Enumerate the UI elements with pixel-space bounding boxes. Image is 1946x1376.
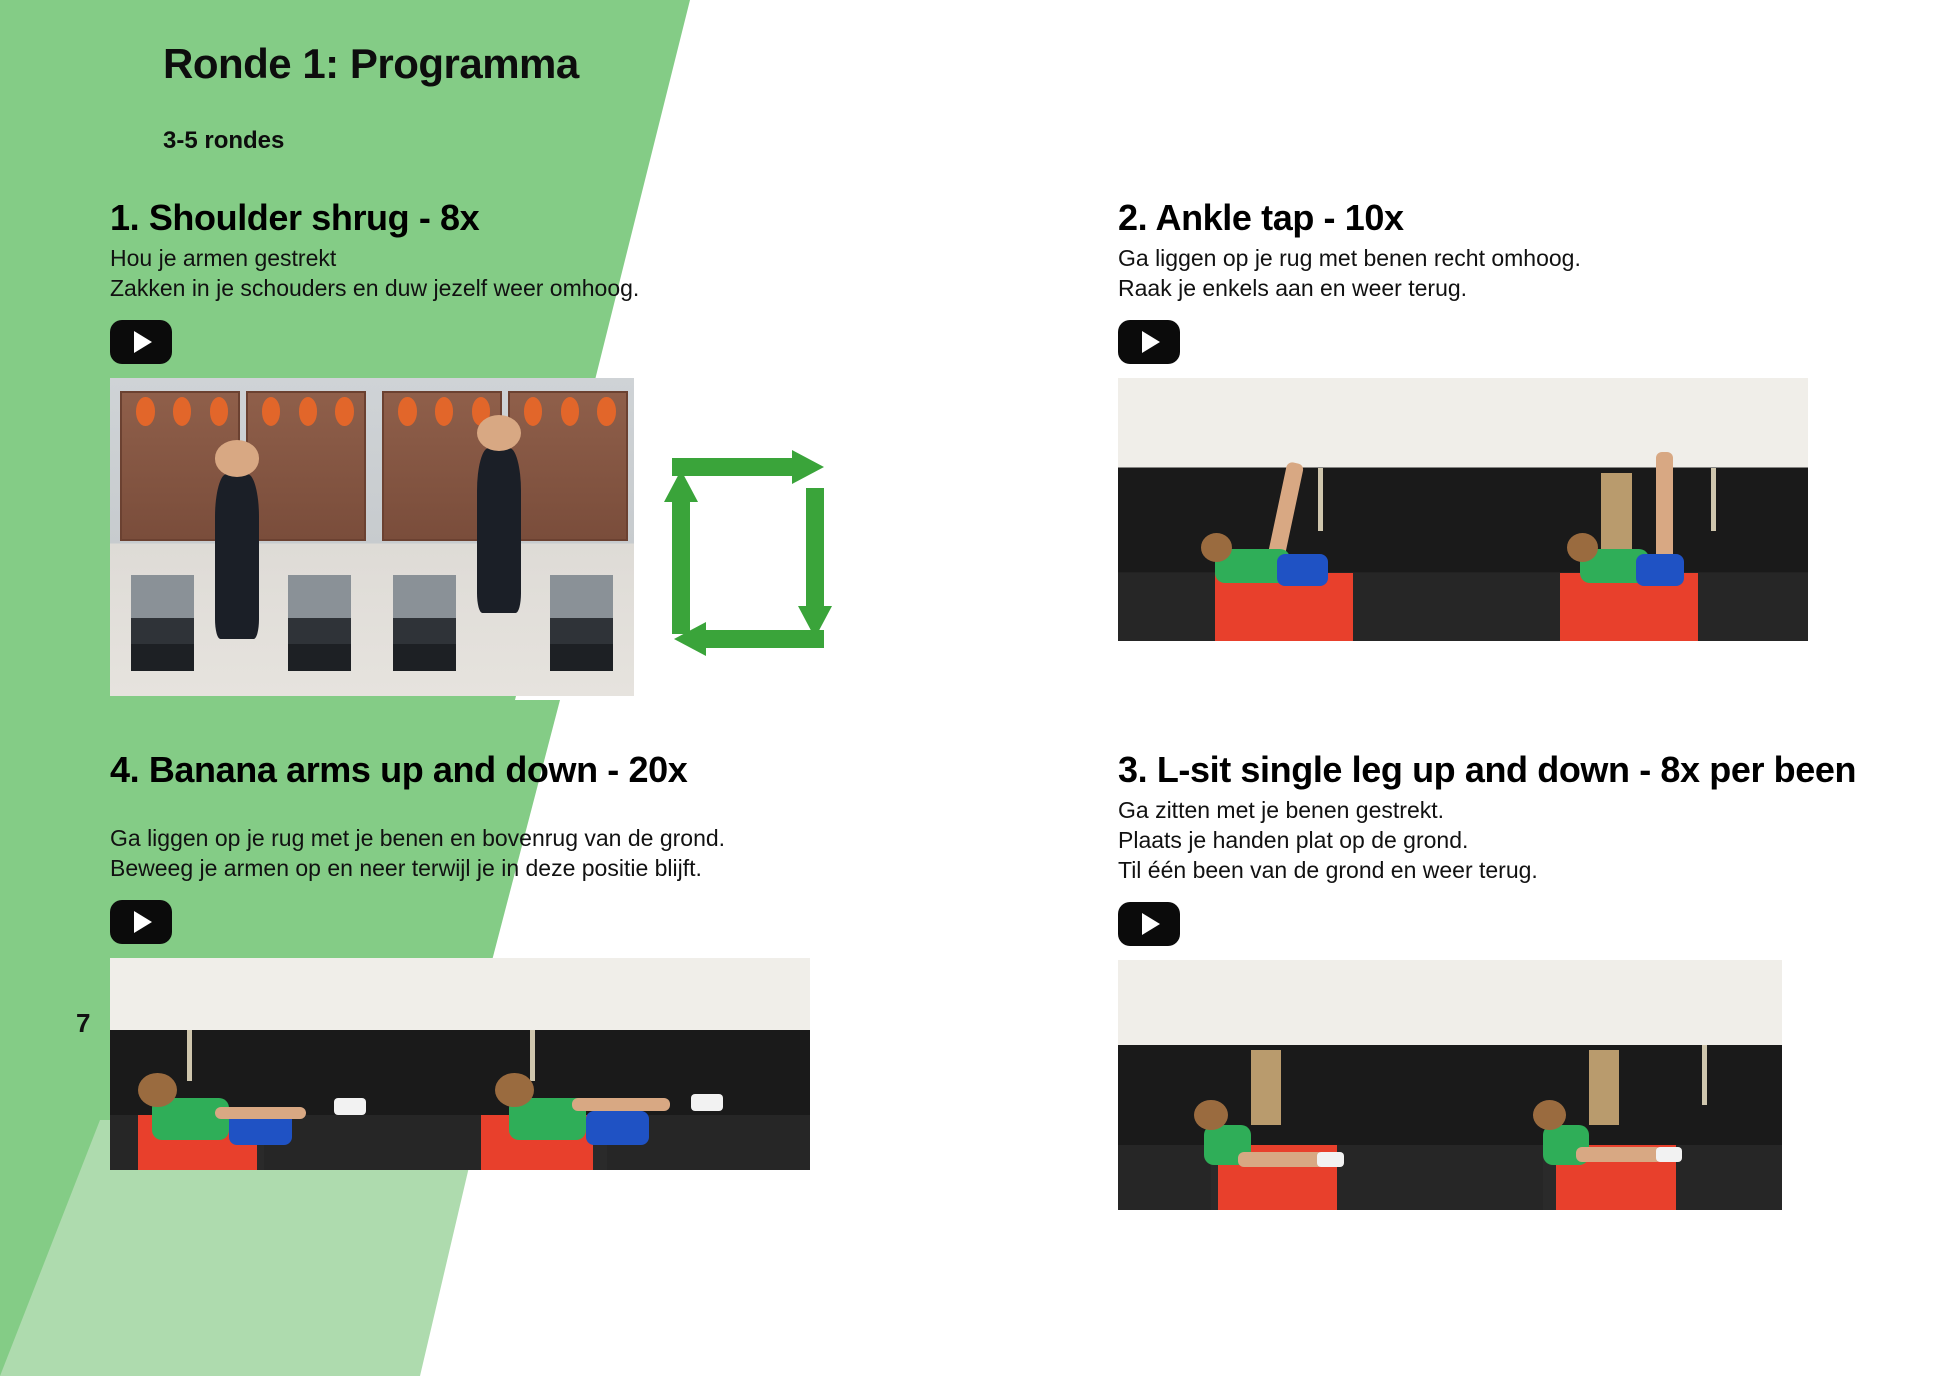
exercise-3-photo-pair (1118, 960, 1908, 1210)
banana-photo-left (110, 958, 460, 1170)
l-sit-photo-left (1118, 960, 1450, 1210)
exercise-2-photo-pair (1118, 378, 1818, 641)
page-number: 7 (76, 1008, 90, 1039)
circuit-flow-diagram (660, 450, 840, 660)
cycle-arrows-svg (660, 450, 840, 660)
exercise-block-2: 2. Ankle tap - 10x Ga liggen op je rug m… (1118, 198, 1818, 641)
play-triangle-icon (134, 331, 152, 353)
exercise-4-title: 4. Banana arms up and down - 20x (110, 750, 810, 790)
exercise-block-3: 3. L-sit single leg up and down - 8x per… (1118, 750, 1908, 1210)
play-triangle-icon (134, 911, 152, 933)
arrow-right-top-head (792, 450, 824, 484)
shoulder-shrug-photo-right (372, 378, 634, 696)
exercise-3-description: Ga zitten met je benen gestrekt. Plaats … (1118, 796, 1908, 886)
exercise-block-4: 4. Banana arms up and down - 20x Ga ligg… (110, 750, 810, 1170)
arrow-up-left-shaft (672, 494, 690, 634)
youtube-play-icon[interactable] (110, 900, 172, 944)
arrow-left-bottom-shaft (700, 630, 824, 648)
page-subtitle: 3-5 rondes (163, 127, 284, 155)
play-triangle-icon (1142, 331, 1160, 353)
page-title: Ronde 1: Programma (163, 40, 579, 88)
play-triangle-icon (1142, 913, 1160, 935)
exercise-4-description: Ga liggen op je rug met je benen en bove… (110, 824, 810, 884)
arrow-right-top-shaft (672, 458, 798, 476)
ankle-tap-photo-left (1118, 378, 1463, 641)
exercise-4-photo-pair (110, 958, 810, 1170)
ankle-tap-photo-right (1463, 378, 1808, 641)
youtube-play-icon[interactable] (110, 320, 172, 364)
exercise-2-title: 2. Ankle tap - 10x (1118, 198, 1818, 238)
youtube-play-icon[interactable] (1118, 320, 1180, 364)
worksheet-page: Ronde 1: Programma 3-5 rondes 1. Shoulde… (0, 0, 1946, 1376)
shoulder-shrug-photo-left (110, 378, 372, 696)
youtube-play-icon[interactable] (1118, 902, 1180, 946)
exercise-1-description: Hou je armen gestrekt Zakken in je schou… (110, 244, 790, 304)
exercise-3-title: 3. L-sit single leg up and down - 8x per… (1118, 750, 1908, 790)
exercise-2-description: Ga liggen op je rug met benen recht omho… (1118, 244, 1818, 304)
banana-photo-right (460, 958, 810, 1170)
arrow-down-right-shaft (806, 488, 824, 612)
l-sit-photo-right (1450, 960, 1782, 1210)
exercise-1-title: 1. Shoulder shrug - 8x (110, 198, 790, 238)
